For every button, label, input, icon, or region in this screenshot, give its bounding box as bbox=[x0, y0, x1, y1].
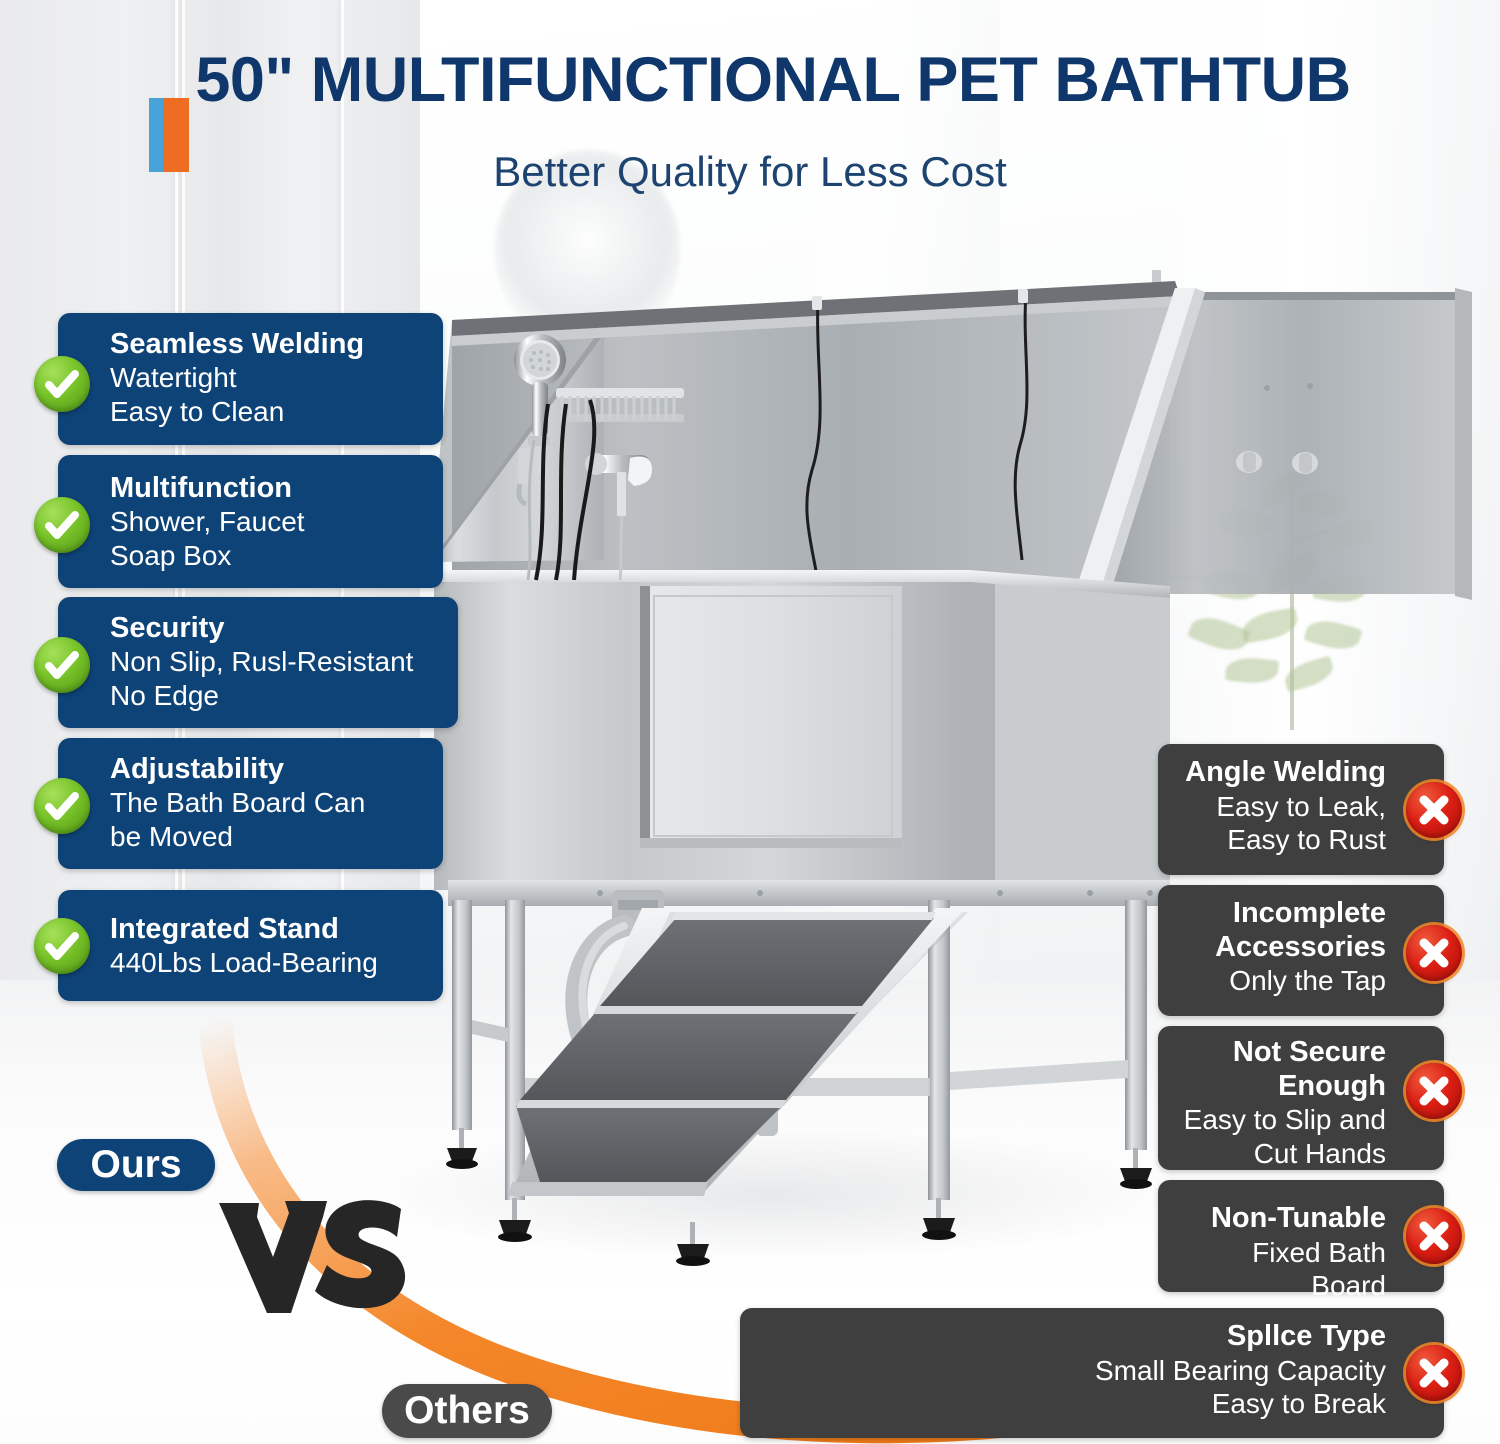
infographic-page: 50" MULTIFUNCTIONAL PET BATHTUB Better Q… bbox=[0, 0, 1500, 1444]
pro-feature-box[interactable]: Multifunction Shower, Faucet Soap Box bbox=[58, 455, 443, 588]
others-pill: Others bbox=[382, 1384, 552, 1438]
check-circle-icon bbox=[34, 918, 90, 974]
con-heading: Not Secure Enough bbox=[1176, 1036, 1386, 1103]
pro-line: Easy to Clean bbox=[110, 395, 425, 429]
pro-feature-box[interactable]: Seamless Welding Watertight Easy to Clea… bbox=[58, 313, 443, 445]
con-line: Easy to Slip and bbox=[1176, 1103, 1386, 1137]
floor-shadow bbox=[380, 1130, 1160, 1260]
x-circle-icon bbox=[1406, 1345, 1462, 1401]
con-line: Easy to Break bbox=[758, 1387, 1386, 1421]
page-subtitle: Better Quality for Less Cost bbox=[0, 148, 1500, 196]
con-heading: Spllce Type bbox=[758, 1320, 1386, 1354]
pro-line: The Bath Board Can bbox=[110, 786, 425, 820]
pro-line: Shower, Faucet bbox=[110, 505, 425, 539]
con-heading: Non-Tunable bbox=[1176, 1202, 1386, 1236]
potted-plant bbox=[1180, 400, 1430, 740]
pro-heading: Adjustability bbox=[110, 752, 425, 786]
x-circle-icon bbox=[1406, 925, 1462, 981]
con-feature-box[interactable]: Non-Tunable Fixed Bath Board bbox=[1158, 1180, 1444, 1292]
pro-heading: Integrated Stand bbox=[110, 912, 425, 946]
pro-feature-box[interactable]: Adjustability The Bath Board Can be Move… bbox=[58, 738, 443, 869]
x-circle-icon bbox=[1406, 1208, 1462, 1264]
x-circle-icon bbox=[1406, 782, 1462, 838]
con-heading: Incomplete Accessories bbox=[1176, 897, 1386, 964]
con-line: Easy to Rust bbox=[1176, 823, 1386, 857]
con-line: Fixed Bath Board bbox=[1176, 1236, 1386, 1303]
con-feature-box[interactable]: Spllce Type Small Bearing Capacity Easy … bbox=[740, 1308, 1444, 1438]
check-circle-icon bbox=[34, 778, 90, 834]
pro-line: Watertight bbox=[110, 361, 425, 395]
vs-logo bbox=[215, 1195, 415, 1315]
pro-feature-box[interactable]: Security Non Slip, Rusl-Resistant No Edg… bbox=[58, 597, 458, 728]
pro-heading: Security bbox=[110, 611, 440, 645]
pro-heading: Multifunction bbox=[110, 471, 425, 505]
con-line: Small Bearing Capacity bbox=[758, 1354, 1386, 1388]
pro-line: Non Slip, Rusl-Resistant bbox=[110, 645, 440, 679]
x-circle-icon bbox=[1406, 1063, 1462, 1119]
ours-pill: Ours bbox=[57, 1139, 215, 1191]
window-frame-vertical bbox=[1152, 270, 1161, 770]
check-circle-icon bbox=[34, 497, 90, 553]
pro-line: be Moved bbox=[110, 820, 425, 854]
pro-heading: Seamless Welding bbox=[110, 327, 425, 361]
check-circle-icon bbox=[34, 356, 90, 412]
con-line: Easy to Leak, bbox=[1176, 790, 1386, 824]
pro-line: No Edge bbox=[110, 679, 440, 713]
pro-line: 440Lbs Load-Bearing bbox=[110, 946, 425, 980]
con-line: Cut Hands bbox=[1176, 1137, 1386, 1171]
con-feature-box[interactable]: Incomplete Accessories Only the Tap bbox=[1158, 885, 1444, 1016]
pro-line: Soap Box bbox=[110, 539, 425, 573]
title-text: 50" MULTIFUNCTIONAL PET BATHTUB bbox=[195, 45, 1350, 115]
con-line: Only the Tap bbox=[1176, 964, 1386, 998]
con-feature-box[interactable]: Angle Welding Easy to Leak, Easy to Rust bbox=[1158, 744, 1444, 875]
con-heading: Angle Welding bbox=[1176, 756, 1386, 790]
check-circle-icon bbox=[34, 637, 90, 693]
con-feature-box[interactable]: Not Secure Enough Easy to Slip and Cut H… bbox=[1158, 1026, 1444, 1170]
pro-feature-box[interactable]: Integrated Stand 440Lbs Load-Bearing bbox=[58, 890, 443, 1001]
